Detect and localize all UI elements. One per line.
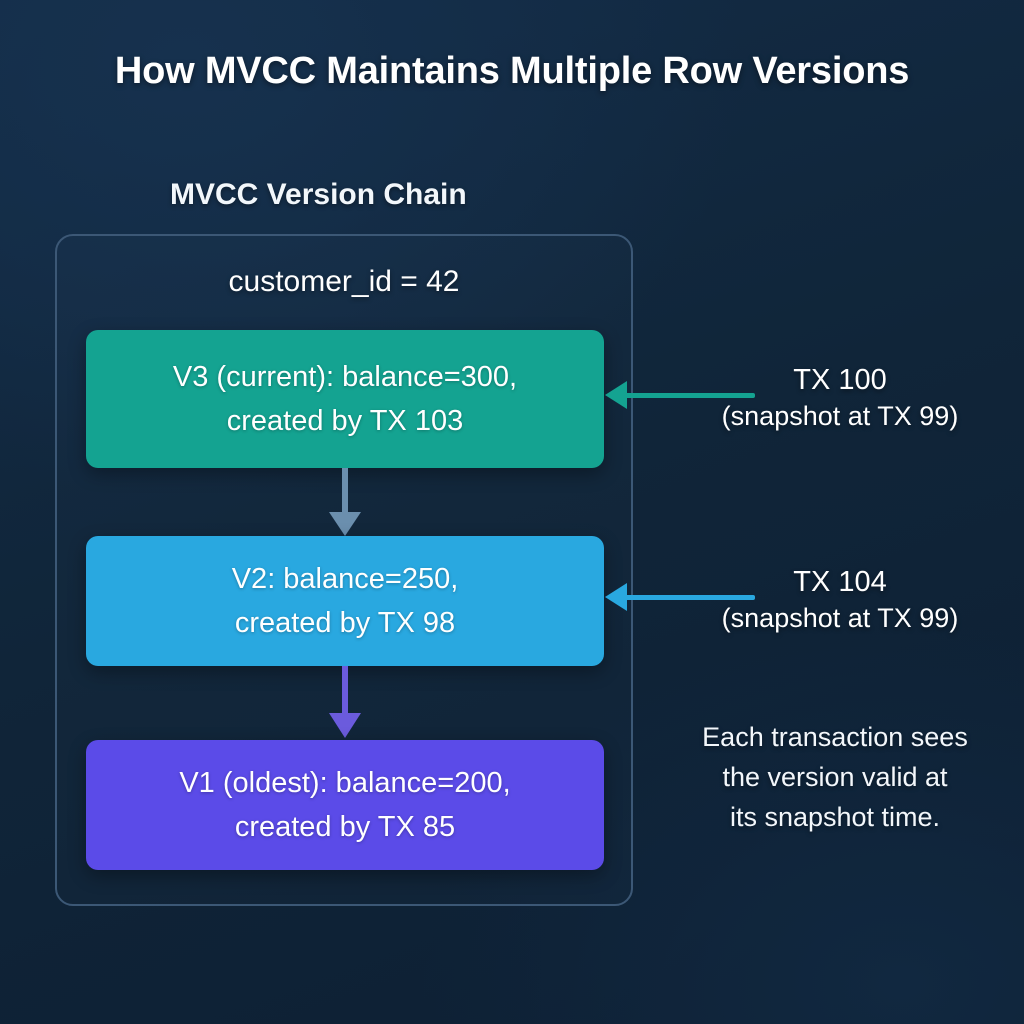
caption-line-3: its snapshot time.	[730, 802, 940, 832]
arrowhead-left-icon	[605, 381, 627, 409]
version-box-v2-line2: created by TX 98	[232, 601, 459, 645]
version-box-v2[interactable]: V2: balance=250, created by TX 98	[86, 536, 604, 666]
connector-arrowhead-down-icon	[329, 713, 361, 738]
version-box-v2-text: V2: balance=250, created by TX 98	[232, 557, 459, 645]
annotation-tx100: TX 100 (snapshot at TX 99)	[660, 364, 1020, 432]
caption-line-1: Each transaction sees	[702, 722, 968, 752]
version-box-v1[interactable]: V1 (oldest): balance=200, created by TX …	[86, 740, 604, 870]
annotation-tx104: TX 104 (snapshot at TX 99)	[660, 566, 1020, 634]
connector-stem	[342, 468, 348, 515]
annotation-tx104-title: TX 104	[660, 566, 1020, 599]
annotation-tx104-subtitle: (snapshot at TX 99)	[660, 603, 1020, 634]
annotation-tx100-title: TX 100	[660, 364, 1020, 397]
version-box-v3[interactable]: V3 (current): balance=300, created by TX…	[86, 330, 604, 468]
version-box-v2-line1: V2: balance=250,	[232, 557, 459, 601]
diagram-canvas: How MVCC Maintains Multiple Row Versions…	[0, 0, 1024, 1024]
version-box-v3-text: V3 (current): balance=300, created by TX…	[173, 355, 517, 443]
version-box-v1-line2: created by TX 85	[179, 805, 510, 849]
connector-arrowhead-down-icon	[329, 512, 361, 536]
section-heading: MVCC Version Chain	[170, 178, 467, 212]
connector-stem	[342, 666, 348, 716]
caption-line-2: the version valid at	[722, 762, 947, 792]
version-box-v3-line2: created by TX 103	[173, 399, 517, 443]
arrowhead-left-icon	[605, 583, 627, 611]
caption-text: Each transaction sees the version valid …	[650, 718, 1020, 838]
page-title: How MVCC Maintains Multiple Row Versions	[0, 50, 1024, 93]
annotation-tx100-subtitle: (snapshot at TX 99)	[660, 401, 1020, 432]
version-box-v3-line1: V3 (current): balance=300,	[173, 355, 517, 399]
version-box-v1-text: V1 (oldest): balance=200, created by TX …	[179, 761, 510, 849]
row-key-label: customer_id = 42	[55, 265, 633, 299]
version-box-v1-line1: V1 (oldest): balance=200,	[179, 761, 510, 805]
